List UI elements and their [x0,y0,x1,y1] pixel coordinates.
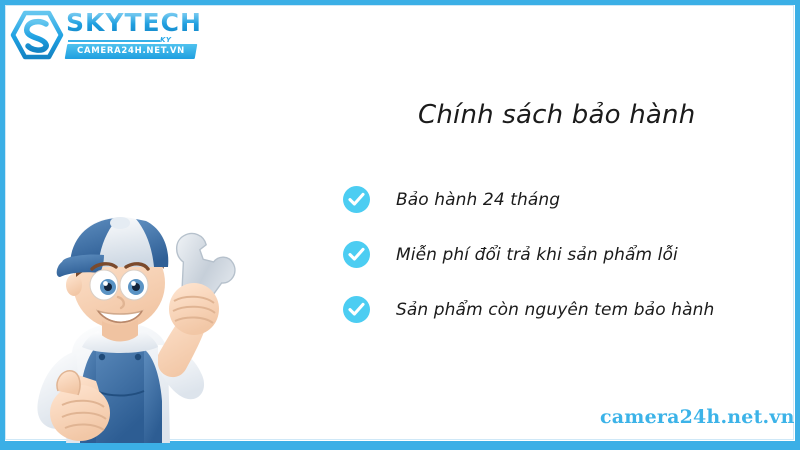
check-circle-icon [343,186,370,213]
feature-label: Sản phẩm còn nguyên tem bảo hành [396,300,714,320]
site-url[interactable]: camera24h.net.vn [600,406,795,428]
feature-label: Miễn phí đổi trả khi sản phẩm lỗi [396,245,678,265]
banner-border-right [795,0,800,450]
check-circle-icon [343,241,370,268]
feature-list: Bảo hành 24 tháng Miễn phí đổi trả khi s… [343,172,783,337]
brand-rule [68,40,160,42]
list-item: Bảo hành 24 tháng [343,172,783,227]
list-item: Miễn phí đổi trả khi sản phẩm lỗi [343,227,783,282]
brand-wordmark-suffix: KY [160,36,172,44]
banner-border-left [0,0,5,450]
brand-logo[interactable]: SKYTECH KY CAMERA24H.NET.VN [8,6,198,64]
skytech-hexagon-s-logo-icon [10,10,64,60]
technician-mascot-illustration [18,205,248,443]
brand-tagline: CAMERA24H.NET.VN [66,44,196,59]
warranty-policy-banner: SKYTECH KY CAMERA24H.NET.VN [0,0,800,450]
list-item: Sản phẩm còn nguyên tem bảo hành [343,282,783,337]
banner-border-top [0,0,800,5]
brand-wordmark: SKYTECH [66,10,202,36]
feature-label: Bảo hành 24 tháng [396,190,560,210]
check-circle-icon [343,296,370,323]
brand-tagline-plate: CAMERA24H.NET.VN [65,44,198,59]
page-title: Chính sách bảo hành [418,100,695,130]
